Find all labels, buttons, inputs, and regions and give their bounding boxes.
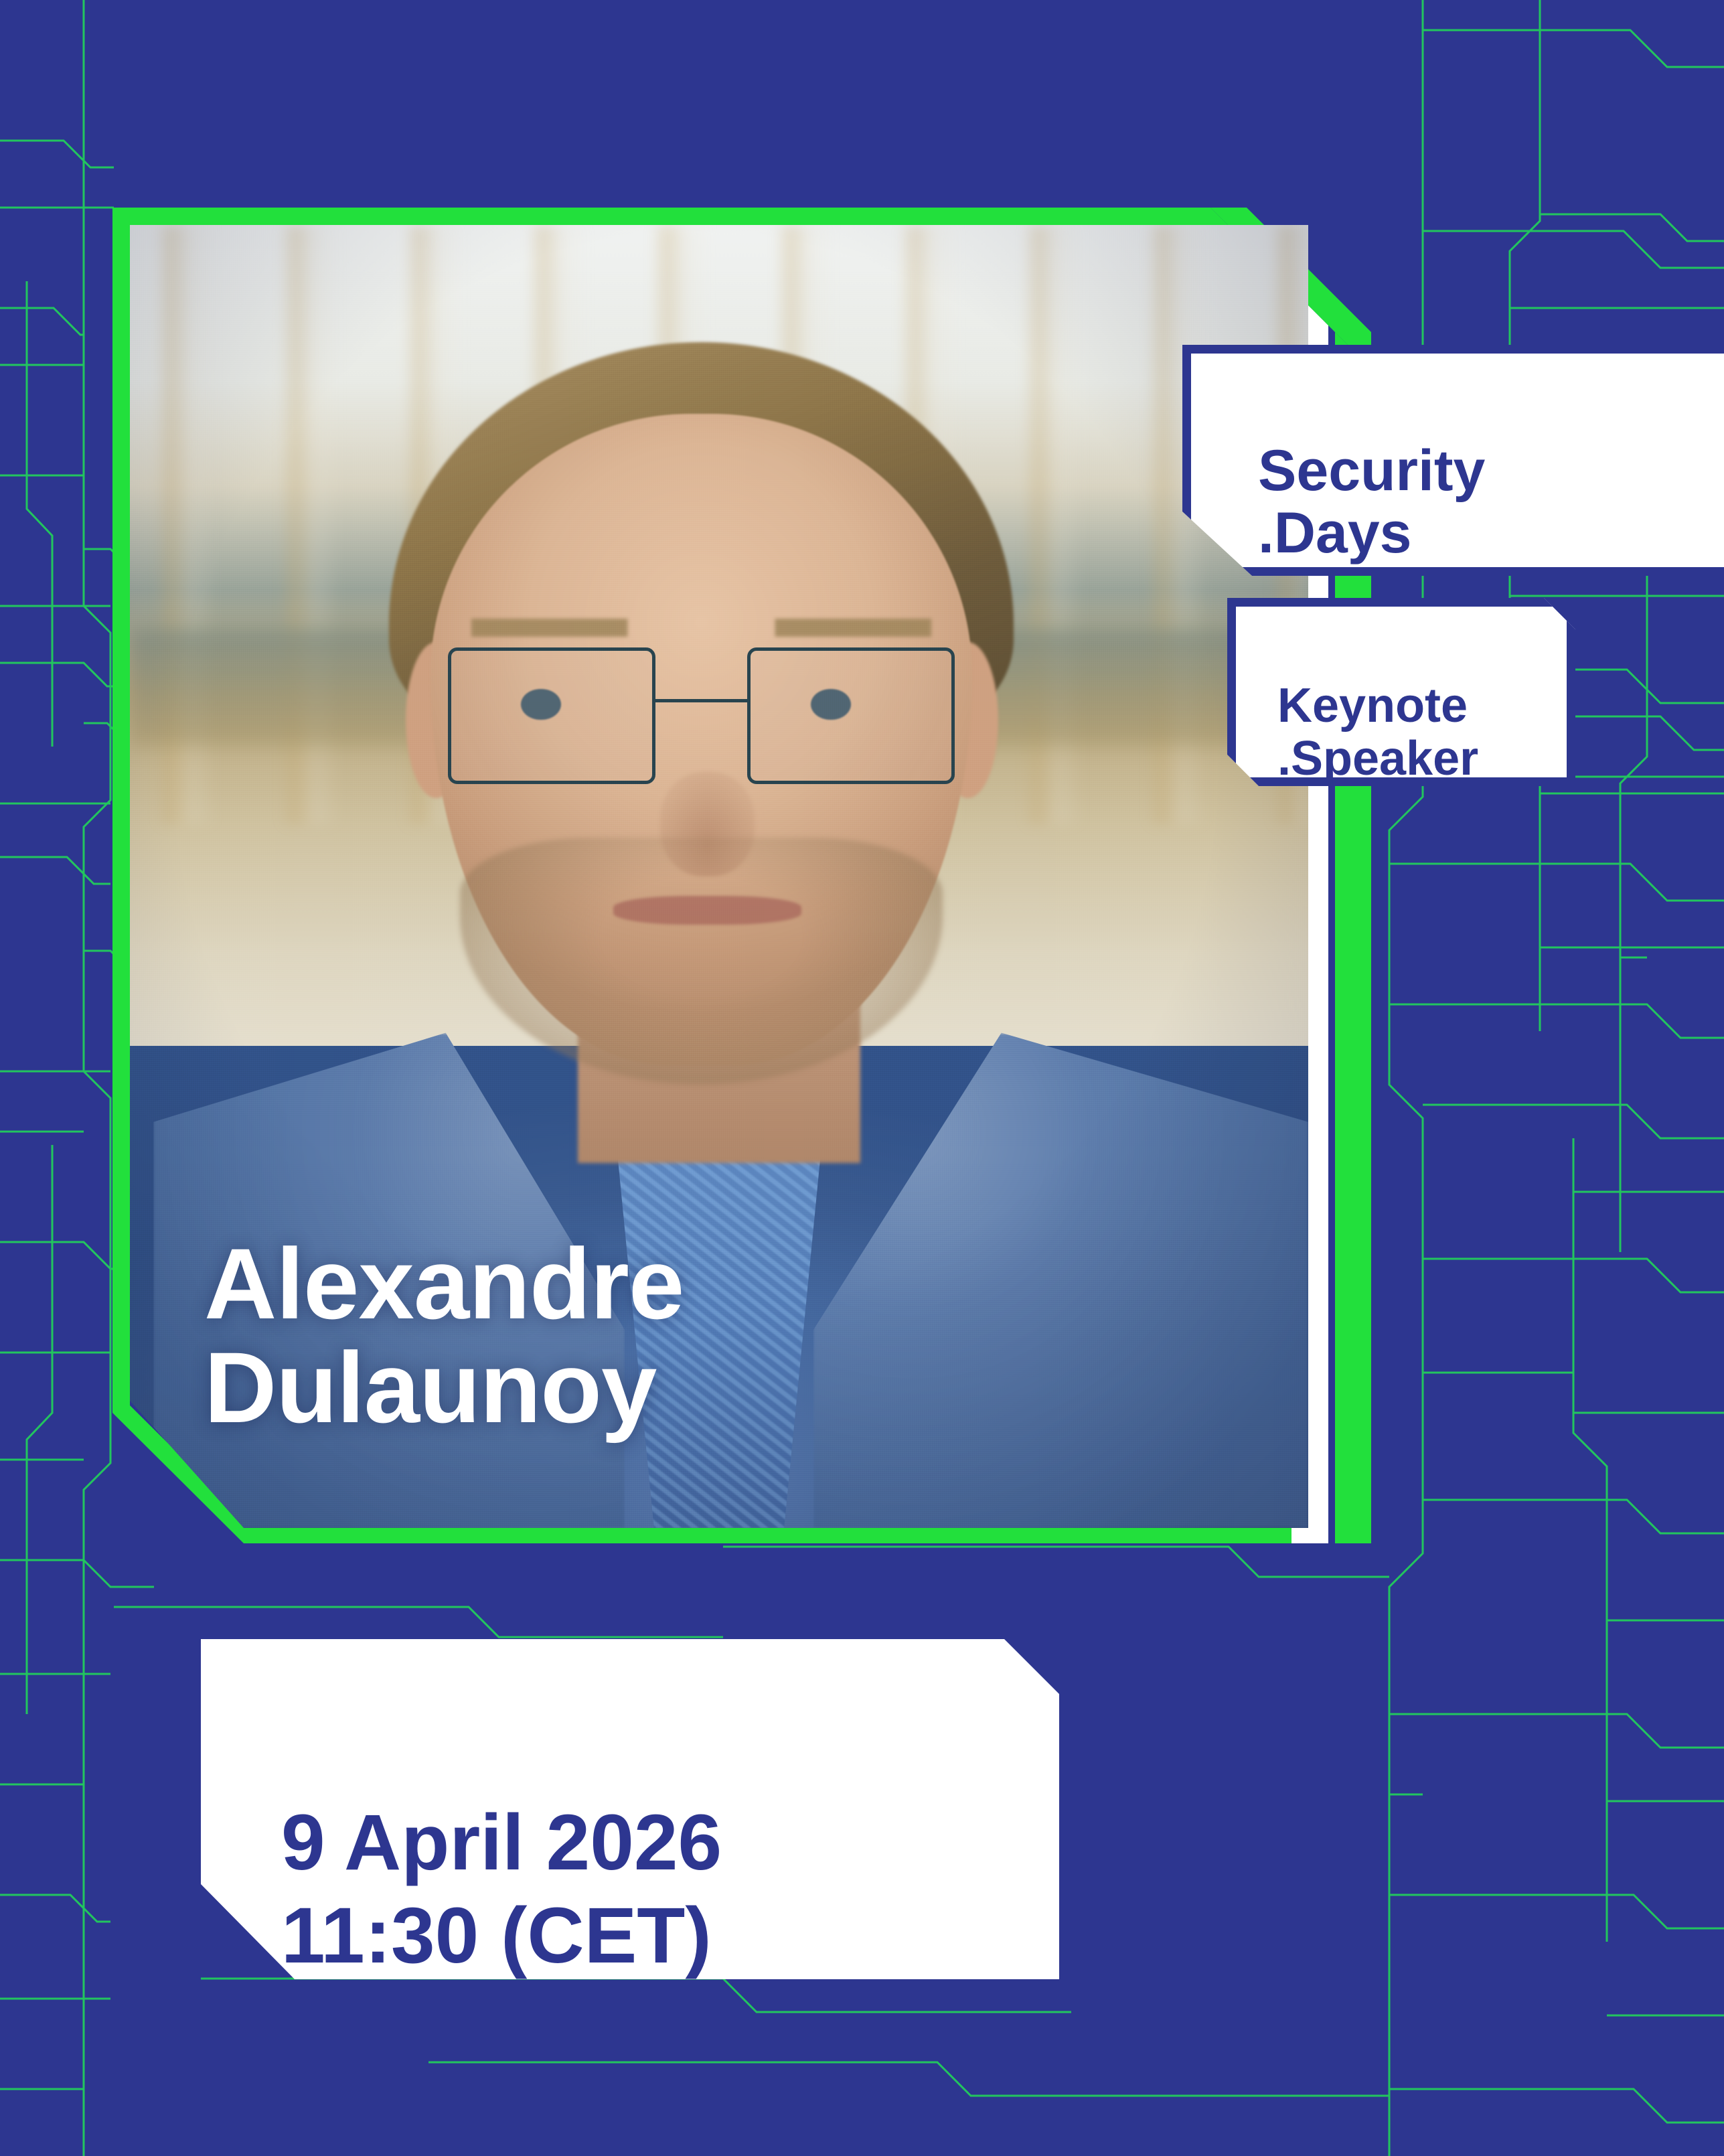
brand-badge-security-days: Security .Days xyxy=(1182,345,1724,576)
brand-badge-label: Security .Days xyxy=(1258,440,1724,564)
speaker-announcement-poster: Alexandre Dulaunoy Security .Days Keynot… xyxy=(0,0,1724,2156)
role-badge-keynote-speaker: Keynote .Speaker xyxy=(1227,598,1575,786)
event-datetime-badge: 9 April 2026 11:30 (CET) xyxy=(201,1639,1059,1979)
event-datetime-label: 9 April 2026 11:30 (CET) xyxy=(281,1796,1059,1983)
role-badge-label: Keynote .Speaker xyxy=(1277,680,1567,785)
speaker-name: Alexandre Dulaunoy xyxy=(204,1232,684,1439)
